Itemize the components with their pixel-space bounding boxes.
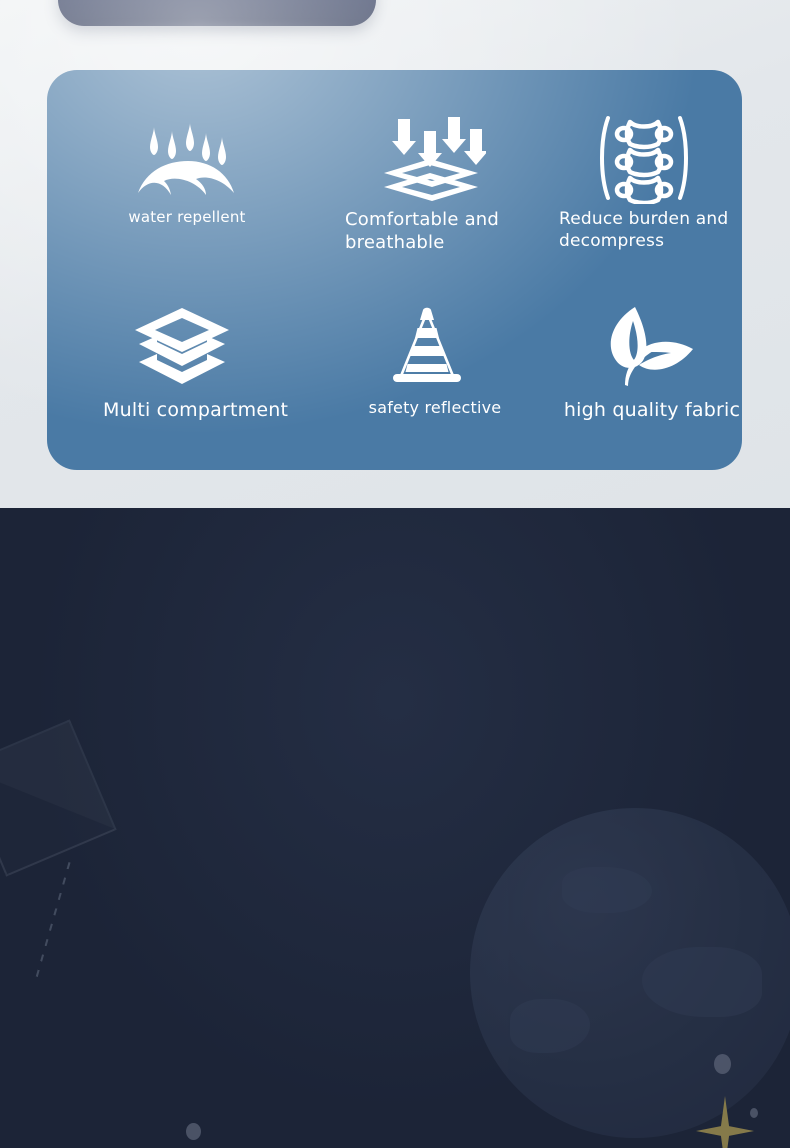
feature-label: water repellent xyxy=(71,208,303,228)
kite-tail xyxy=(36,862,71,978)
feature-label: high quality fabric xyxy=(527,398,777,423)
star-dot xyxy=(750,1108,758,1118)
sparkle-icon xyxy=(696,1096,754,1148)
spine-support-icon xyxy=(515,108,772,208)
product-detail-page: water repellent xyxy=(0,0,790,1148)
product-photo-section: water repellent xyxy=(0,0,790,508)
feature-label: safety reflective xyxy=(319,398,551,419)
feature-grid: water repellent xyxy=(47,70,742,470)
planet-decoration xyxy=(470,808,790,1138)
feature-label: Comfortable and breathable xyxy=(319,208,551,255)
feature-item-quality-fabric[interactable]: high quality fabric xyxy=(527,298,777,423)
astronaut-section: little astronaut "Integrate the design c… xyxy=(0,508,790,1148)
planet-land-mass xyxy=(562,867,652,913)
layers-stack-icon xyxy=(61,298,303,398)
feature-card: water repellent xyxy=(47,70,742,470)
backpack-shadow xyxy=(62,24,374,36)
kite-decoration xyxy=(0,720,116,876)
feature-label: Multi compartment xyxy=(71,398,303,423)
feature-label: Reduce burden and decompress xyxy=(537,208,772,252)
planet-land-mass xyxy=(510,999,590,1053)
star-dot xyxy=(186,1123,201,1140)
kite-body xyxy=(0,719,117,876)
star-dot xyxy=(714,1054,731,1074)
feature-item-multi-compartment[interactable]: Multi compartment xyxy=(71,298,303,423)
feature-item-water-repellent[interactable]: water repellent xyxy=(71,108,303,228)
feature-item-decompress[interactable]: Reduce burden and decompress xyxy=(537,108,772,252)
water-droplets-icon xyxy=(67,108,303,208)
planet-land-mass xyxy=(642,947,762,1017)
traffic-cone-icon xyxy=(303,298,551,398)
backpack-photo xyxy=(58,0,376,26)
leaf-icon xyxy=(517,298,777,398)
